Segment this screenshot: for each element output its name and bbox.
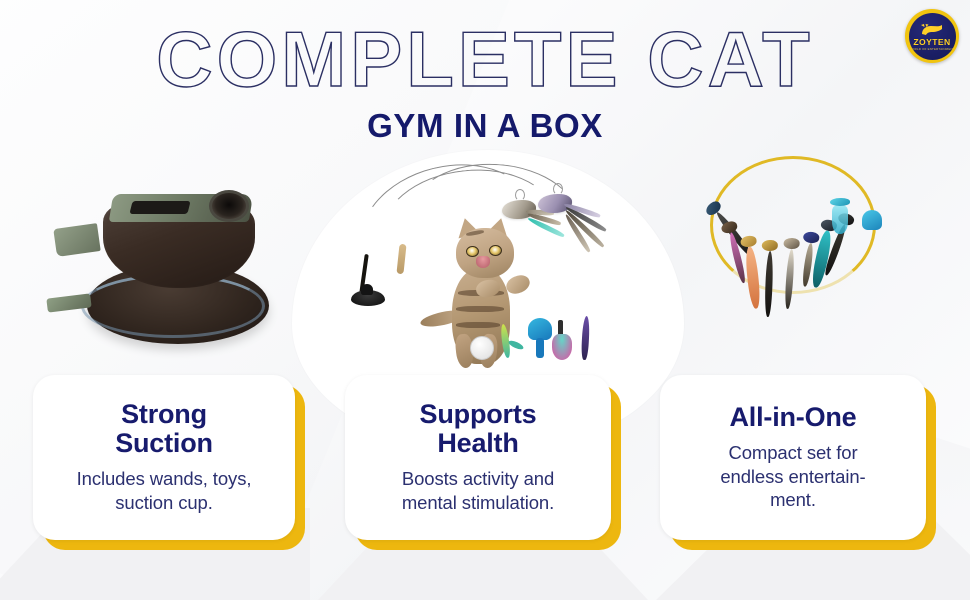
charm-head-teal: [830, 198, 850, 206]
charm-plume-teal: [832, 206, 848, 234]
card-title-line-1: All-in-One: [730, 402, 857, 432]
charm-head-3: [740, 235, 757, 248]
charm-4: [759, 240, 778, 318]
wand-hook-2: [553, 183, 563, 195]
wand-base-knob: [361, 284, 373, 295]
feather-bird-toy-2: [538, 194, 572, 213]
wand-hook-1: [515, 189, 525, 201]
cat-head: [456, 228, 514, 278]
card-body-line-1: Compact set for: [728, 442, 857, 463]
suction-lever: [129, 201, 190, 214]
card-title-line-2: Suction: [115, 428, 213, 458]
card-body-line-2: mental stimulation.: [402, 492, 554, 513]
page-subtitle: GYM IN A BOX: [0, 107, 970, 145]
charm-5: [779, 237, 800, 309]
cat-eye-left: [466, 246, 479, 257]
card-surface[interactable]: Strong Suction Includes wands, toys, suc…: [33, 375, 295, 540]
toy-blue-stem: [536, 338, 544, 358]
charm-head-4: [762, 240, 778, 252]
charm-plume-5: [784, 249, 795, 309]
card-strong-suction[interactable]: Strong Suction Includes wands, toys, suc…: [33, 375, 295, 540]
charm-head-5: [783, 237, 800, 249]
card-body-line-3: ment.: [770, 489, 816, 510]
card-title-line-2: Health: [437, 428, 518, 458]
toy-white-ball: [470, 336, 494, 360]
card-body-line-2: suction cup.: [115, 492, 213, 513]
cat-open-mouth: [476, 256, 490, 268]
toy-green-feather-tail: [507, 339, 524, 351]
card-title: Supports Health: [420, 400, 537, 458]
card-body: Compact set for endless entertain- ment.: [720, 441, 865, 512]
page-title: COMPLETE CAT: [0, 20, 970, 98]
charm-blue-fish: [862, 210, 882, 230]
cat-eye-right: [489, 245, 502, 256]
card-body: Includes wands, toys, suction cup.: [77, 467, 252, 514]
card-title: All-in-One: [730, 403, 857, 432]
card-body-line-1: Boosts activity and: [402, 468, 554, 489]
charm-plume-4: [764, 251, 773, 317]
card-supports-health[interactable]: Supports Health Boosts activity and ment…: [345, 375, 611, 540]
feather-ring-toy-photo: [680, 152, 910, 367]
toy-purple-tinsel: [581, 316, 590, 360]
card-body-line-1: Includes wands, toys,: [77, 468, 252, 489]
card-title-line-1: Supports: [420, 399, 537, 429]
card-title-line-1: Strong: [121, 399, 207, 429]
cat-stripe-2: [456, 306, 504, 312]
card-body-line-2: endless entertain-: [720, 466, 865, 487]
card-all-in-one[interactable]: All-in-One Compact set for endless enter…: [660, 375, 926, 540]
suction-release-tab: [53, 223, 100, 257]
charm-teal-tassel: [830, 198, 850, 234]
charm-fish-body: [862, 210, 882, 230]
suction-socket-hole: [209, 190, 249, 222]
cat-playing-with-wands-photo: [352, 158, 627, 368]
toy-pink-plume: [552, 334, 572, 360]
card-title: Strong Suction: [115, 400, 213, 458]
card-surface[interactable]: All-in-One Compact set for endless enter…: [660, 375, 926, 540]
suction-cup-mount-photo: [45, 168, 295, 363]
card-surface[interactable]: Supports Health Boosts activity and ment…: [345, 375, 611, 540]
small-toys-row: [470, 316, 600, 364]
card-body: Boosts activity and mental stimulation.: [402, 467, 554, 514]
infographic-banner: ZOYTEN WORLD OF ENTERTAINMENT COMPLETE C…: [0, 0, 970, 600]
toy-blue-cat-face: [528, 318, 552, 340]
